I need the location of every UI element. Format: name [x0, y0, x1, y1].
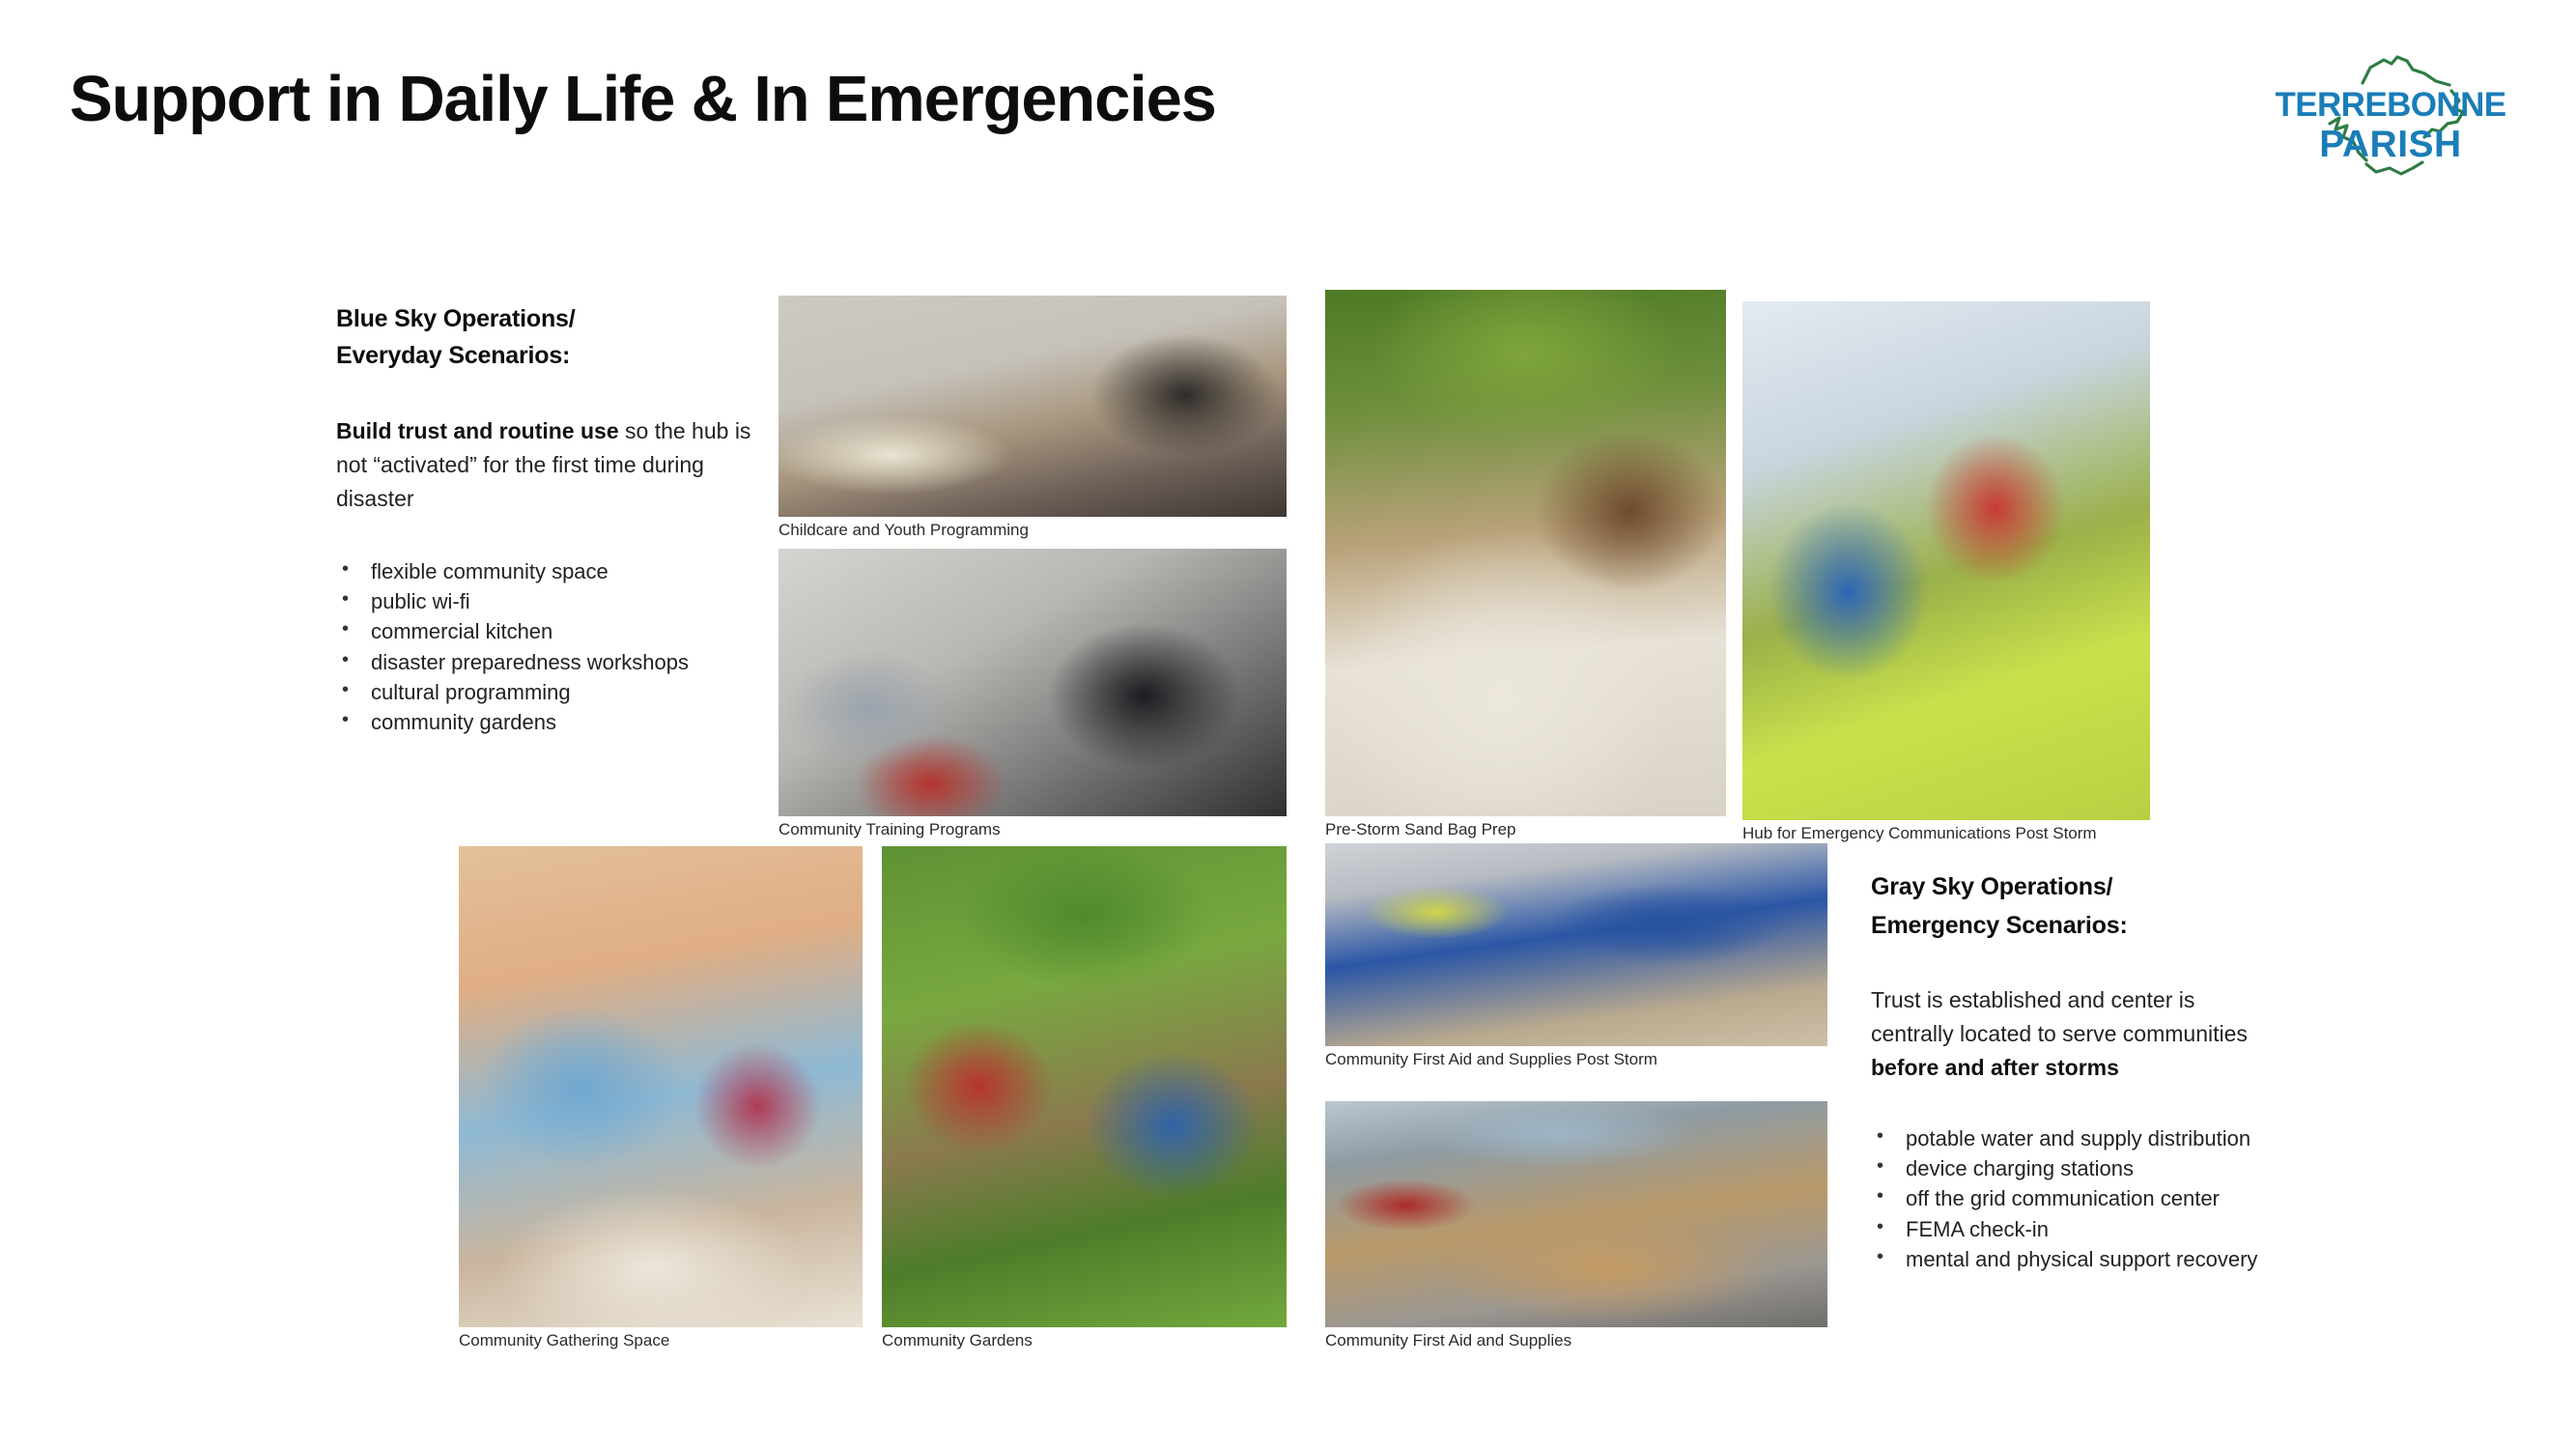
blue-sky-paragraph: Build trust and routine use so the hub i…: [336, 414, 761, 516]
figure-gathering-space: Community Gathering Space: [459, 846, 863, 1327]
blue-sky-bullet-0: flexible community space: [336, 556, 761, 586]
caption-sandbag: Pre-Storm Sand Bag Prep: [1325, 820, 1515, 839]
gray-sky-paragraph-start: Trust is established and center is centr…: [1871, 987, 2248, 1046]
figure-emergency-comms: Hub for Emergency Communications Post St…: [1742, 301, 2150, 820]
photo-community-first-aid-and-supplies: [1325, 1101, 1827, 1327]
logo-line1: TERREBONNE: [2275, 86, 2505, 124]
blue-sky-bullet-2: commercial kitchen: [336, 616, 761, 646]
caption-childcare: Childcare and Youth Programming: [778, 521, 1029, 540]
slide-canvas: Support in Daily Life & In Emergencies T…: [0, 0, 2576, 1449]
logo-line2: PARISH: [2319, 124, 2461, 165]
photo-childcare-and-youth-programming: [778, 296, 1287, 517]
blue-sky-bullet-list: flexible community spacepublic wi-ficomm…: [336, 556, 761, 737]
caption-community-gardens: Community Gardens: [882, 1331, 1033, 1350]
blue-sky-bullet-4: cultural programming: [336, 677, 761, 707]
blue-sky-heading: Blue Sky Operations/ Everyday Scenarios:: [336, 301, 761, 374]
photo-community-gardens: [882, 846, 1287, 1327]
blue-sky-heading-line2: Everyday Scenarios:: [336, 338, 761, 375]
gray-sky-bullet-3: FEMA check-in: [1871, 1214, 2286, 1244]
caption-community-training: Community Training Programs: [778, 820, 1001, 839]
photo-community-training-programs: [778, 549, 1287, 816]
caption-first-aid-supplies: Community First Aid and Supplies: [1325, 1331, 1571, 1350]
blue-sky-bullet-5: community gardens: [336, 707, 761, 737]
gray-sky-bullet-2: off the grid communication center: [1871, 1183, 2286, 1213]
gray-sky-text-column: Gray Sky Operations/ Emergency Scenarios…: [1871, 867, 2277, 1274]
caption-emergency-comms: Hub for Emergency Communications Post St…: [1742, 824, 2097, 843]
gray-sky-heading: Gray Sky Operations/ Emergency Scenarios…: [1871, 867, 2277, 945]
figure-first-aid-post-storm: Community First Aid and Supplies Post St…: [1325, 843, 1827, 1046]
blue-sky-bullet-1: public wi-fi: [336, 586, 761, 616]
figure-childcare: Childcare and Youth Programming: [778, 296, 1287, 517]
gray-sky-bullet-4: mental and physical support recovery: [1871, 1244, 2286, 1274]
figure-sandbag: Pre-Storm Sand Bag Prep: [1325, 290, 1726, 816]
figure-first-aid-supplies: Community First Aid and Supplies: [1325, 1101, 1827, 1327]
photo-community-first-aid-and-supplies-post-storm: [1325, 843, 1827, 1046]
caption-gathering-space: Community Gathering Space: [459, 1331, 669, 1350]
gray-sky-bullet-1: device charging stations: [1871, 1153, 2286, 1183]
figure-community-gardens: Community Gardens: [882, 846, 1287, 1327]
photo-pre-storm-sand-bag-prep: [1325, 290, 1726, 816]
blue-sky-paragraph-bold: Build trust and routine use: [336, 418, 619, 443]
gray-sky-bullet-list: potable water and supply distributiondev…: [1871, 1123, 2286, 1274]
gray-sky-paragraph-bold: before and after storms: [1871, 1055, 2119, 1080]
blue-sky-bullet-3: disaster preparedness workshops: [336, 647, 761, 677]
photo-hub-for-emergency-communications-post-storm: [1742, 301, 2150, 820]
blue-sky-heading-line1: Blue Sky Operations/: [336, 301, 761, 338]
gray-sky-heading-line1: Gray Sky Operations/: [1871, 867, 2277, 906]
blue-sky-text-column: Blue Sky Operations/ Everyday Scenarios:…: [336, 301, 761, 737]
photo-community-gathering-space: [459, 846, 863, 1327]
page-title: Support in Daily Life & In Emergencies: [70, 66, 1216, 133]
gray-sky-paragraph: Trust is established and center is centr…: [1871, 983, 2255, 1085]
figure-community-training: Community Training Programs: [778, 549, 1287, 816]
gray-sky-bullet-0: potable water and supply distribution: [1871, 1123, 2286, 1153]
terrebonne-parish-logo: TERREBONNE PARISH: [2270, 41, 2511, 185]
gray-sky-heading-line2: Emergency Scenarios:: [1871, 906, 2277, 945]
caption-first-aid-post-storm: Community First Aid and Supplies Post St…: [1325, 1050, 1657, 1069]
